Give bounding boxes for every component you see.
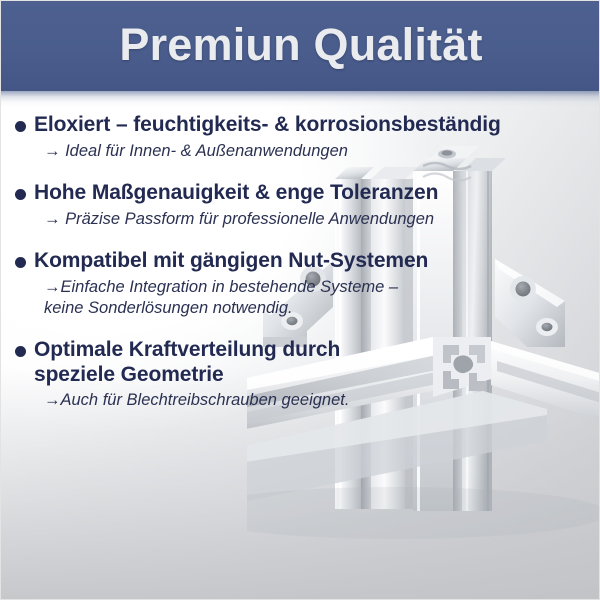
feature-subtext-line: →Auch für Blechtreibschrauben geeignet.: [44, 390, 569, 411]
feature-subtext: → Ideal für Innen- & Außenanwendungen: [34, 141, 569, 162]
feature-subtext: →Einfache Integration in bestehende Syst…: [34, 277, 569, 319]
bullet-dot-icon: [15, 257, 26, 268]
feature-subtext: → Präzise Passform für professionelle An…: [34, 209, 569, 230]
feature-subtext-line: → Präzise Passform für professionelle An…: [44, 209, 569, 230]
feature-headline: Hohe Maßgenauigkeit & enge Toleranzen: [34, 181, 569, 206]
feature-subtext-line: keine Sonderlösungen notwendig.: [44, 298, 569, 319]
infographic-root: Premiun Qualität Eloxiert – feuchtigkeit…: [0, 0, 600, 600]
feature-subtext-line: →Einfache Integration in bestehende Syst…: [44, 277, 569, 298]
header-band: Premiun Qualität: [1, 1, 600, 91]
feature-headline: Kompatibel mit gängigen Nut-Systemen: [34, 249, 569, 274]
feature-subtext: →Auch für Blechtreibschrauben geeignet.: [34, 390, 569, 411]
list-item: Eloxiert – feuchtigkeits- & korrosionsbe…: [1, 113, 569, 162]
bullet-dot-icon: [15, 189, 26, 200]
feature-subtext-line: → Ideal für Innen- & Außenanwendungen: [44, 141, 569, 162]
page-title: Premiun Qualität: [119, 22, 482, 71]
feature-headline: Eloxiert – feuchtigkeits- & korrosionsbe…: [34, 113, 569, 138]
feature-list: Eloxiert – feuchtigkeits- & korrosionsbe…: [1, 113, 569, 411]
header-band-shadow: [1, 91, 600, 107]
list-item: Hohe Maßgenauigkeit & enge Toleranzen → …: [1, 181, 569, 230]
list-item: Kompatibel mit gängigen Nut-Systemen →Ei…: [1, 249, 569, 319]
bullet-dot-icon: [15, 346, 26, 357]
feature-headline: Optimale Kraftverteilung durch speziele …: [34, 338, 379, 388]
list-item: Optimale Kraftverteilung durch speziele …: [1, 338, 569, 412]
bullet-dot-icon: [15, 121, 26, 132]
